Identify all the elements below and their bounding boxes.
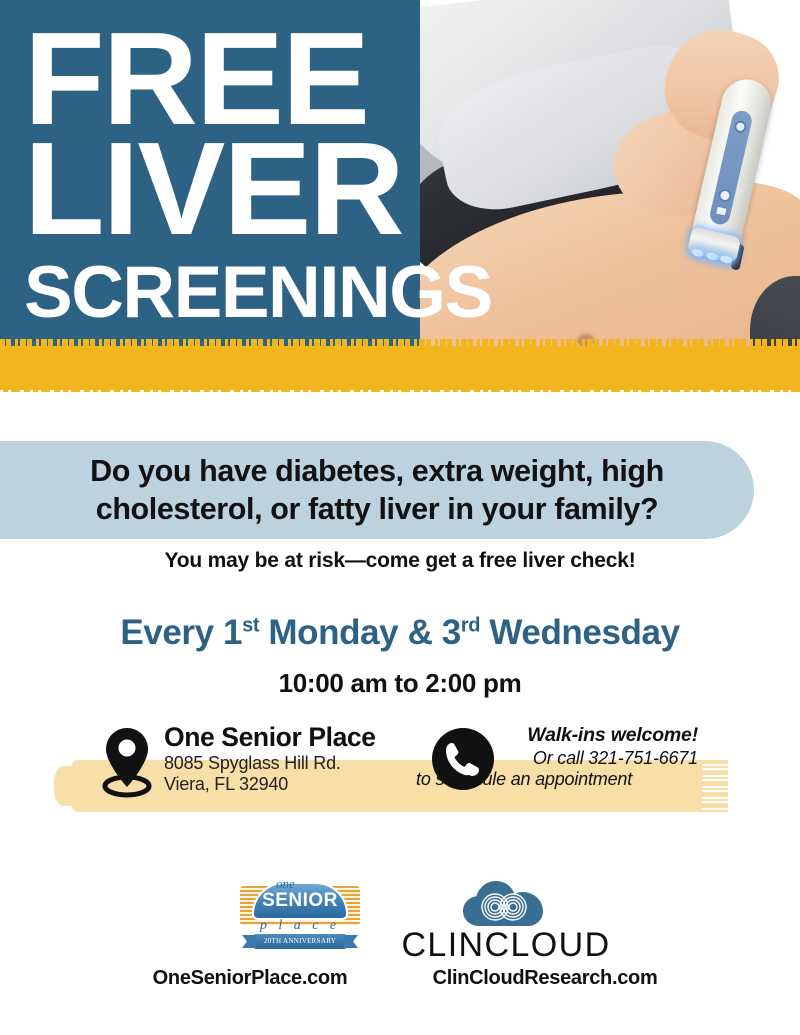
map-pin-icon [100, 726, 154, 798]
probe-blue-strip [708, 109, 754, 227]
title-block: FREE LIVER SCREENINGS [0, 0, 420, 346]
call-line-2: to schedule an appointment [354, 768, 632, 790]
schedule-date-line: Every 1st Monday & 3rd Wednesday [0, 613, 800, 653]
osp-word-senior: SENIOR [238, 890, 362, 912]
clincloud-logo[interactable]: CLINCLOUD [395, 876, 617, 954]
question-text: Do you have diabetes, extra weight, high… [27, 452, 727, 528]
location-name: One Senior Place [164, 722, 376, 753]
question-banner: Do you have diabetes, extra weight, high… [0, 441, 754, 539]
website-row: OneSeniorPlace.com ClinCloudResearch.com [0, 967, 800, 990]
walkins-label: Walk-ins welcome! [498, 724, 698, 747]
one-senior-place-logo[interactable]: one SENIOR p l a c e 20TH ANNIVERSARY [238, 874, 362, 952]
hero-section: FREE LIVER SCREENINGS [0, 0, 800, 392]
location-address-1: 8085 Spyglass Hill Rd. [164, 753, 376, 774]
question-subhead: You may be at risk—come get a free liver… [0, 549, 800, 573]
call-line-1: Or call 321-751-6671 [498, 747, 698, 769]
headline-liver: LIVER [24, 130, 403, 248]
headline-screenings: SCREENINGS [24, 255, 492, 331]
clincloud-wordmark: CLINCLOUD [395, 926, 617, 965]
yellow-brush-band [0, 346, 800, 390]
schedule-prefix: Every 1 [120, 613, 242, 652]
flyer-page: FREE LIVER SCREENINGS Do you have diabet… [0, 0, 800, 1035]
schedule-time: 10:00 am to 2:00 pm [0, 668, 800, 699]
osp-ribbon-text: 20TH ANNIVERSARY [254, 934, 346, 949]
osp-word-place: p l a c e [238, 918, 362, 934]
website-one-senior-place[interactable]: OneSeniorPlace.com [125, 967, 375, 990]
schedule-ordinal-1: st [242, 614, 259, 636]
schedule-suffix: Wednesday [480, 613, 680, 652]
schedule-mid: Monday & 3 [259, 613, 461, 652]
contact-text: Walk-ins welcome! Or call 321-751-6671 [498, 724, 698, 769]
location-address-2: Viera, FL 32940 [164, 774, 376, 795]
cloud-infinity-icon [457, 876, 557, 928]
schedule-ordinal-2: rd [461, 614, 480, 636]
osp-anniversary-ribbon: 20TH ANNIVERSARY [254, 934, 346, 949]
website-clincloud[interactable]: ClinCloudResearch.com [415, 967, 675, 990]
location-text: One Senior Place 8085 Spyglass Hill Rd. … [164, 722, 376, 795]
